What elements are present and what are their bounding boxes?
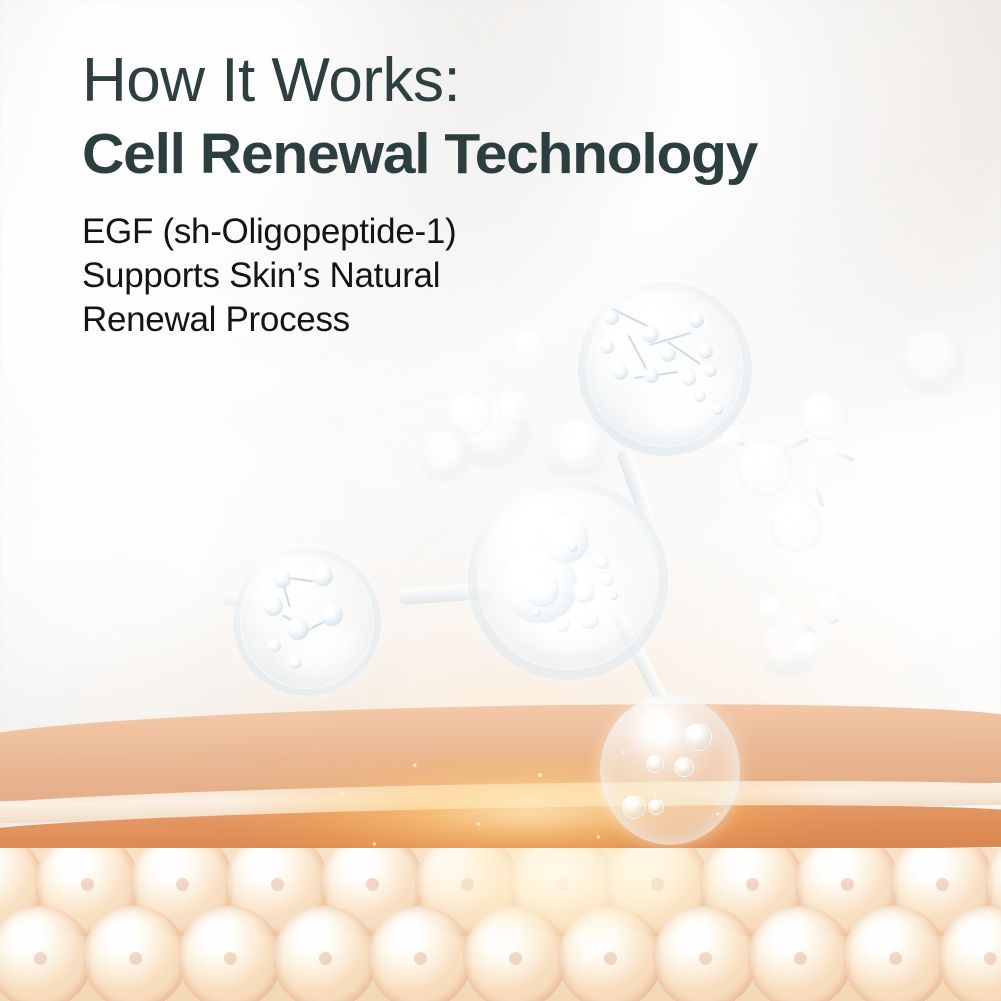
bokeh-circle: [420, 430, 472, 482]
inner-node: [273, 570, 291, 588]
subcopy-line-2: Supports Skin’s Natural: [82, 254, 737, 298]
cell: [273, 906, 377, 1001]
inner-bubble: [600, 572, 615, 587]
inner-node: [600, 340, 614, 354]
headline-block: How It Works: Cell Renewal Technology EG…: [82, 50, 737, 342]
inner-node: [269, 640, 281, 652]
inner-bubble: [524, 572, 560, 608]
inner-node: [313, 566, 333, 586]
cell: [748, 906, 852, 1001]
inner-node: [698, 344, 713, 359]
page-title: Cell Renewal Technology: [82, 124, 757, 186]
inner-bubble: [572, 580, 596, 604]
creative-canvas: How It Works: Cell Renewal Technology EG…: [0, 0, 1001, 1001]
inner-node: [712, 404, 723, 415]
molecule-node: [448, 392, 492, 436]
molecule-penetrating-skin-barrier: [600, 695, 740, 845]
inner-node: [644, 368, 659, 383]
molecule-node: [497, 390, 531, 424]
molecule-node: [770, 500, 822, 552]
cell: [83, 906, 187, 1001]
inner-node: [263, 596, 283, 616]
inner-bubble: [674, 757, 694, 777]
molecule-node: [794, 632, 828, 666]
cell: [0, 906, 92, 1001]
inner-node: [568, 542, 578, 552]
inner-bubble: [578, 608, 600, 630]
inner-bubble: [648, 799, 664, 815]
inner-bubble: [684, 723, 712, 751]
molecule-node: [737, 440, 793, 496]
inner-node: [289, 656, 302, 669]
molecule-bond: [803, 453, 824, 507]
subcopy-line-1: EGF (sh-Oligopeptide-1): [82, 210, 737, 254]
cell-layer-glow: [400, 848, 740, 948]
molecule-sphere-left: [233, 548, 381, 696]
inner-node: [704, 364, 717, 377]
inner-node: [612, 364, 628, 380]
inner-node: [682, 372, 696, 386]
inner-node: [532, 608, 541, 617]
inner-bubble: [554, 616, 571, 633]
subcopy-block: EGF (sh-Oligopeptide-1) Supports Skin’s …: [82, 210, 737, 342]
molecule-node: [758, 596, 788, 626]
cell: [178, 906, 282, 1001]
cell: [843, 906, 947, 1001]
inner-node: [660, 346, 676, 362]
inner-node: [321, 604, 343, 626]
subcopy-line-3: Renewal Process: [82, 298, 737, 342]
skin-cell-layer: [0, 848, 1001, 1001]
inner-bubble: [592, 552, 610, 570]
inner-bubble: [622, 795, 646, 819]
molecule-sphere-center: [468, 480, 668, 680]
inner-node: [610, 592, 618, 600]
kicker-text: How It Works:: [82, 50, 737, 112]
molecule-node: [800, 392, 848, 440]
inner-node: [287, 618, 309, 640]
cell: [938, 906, 1001, 1001]
inner-bubble: [646, 755, 664, 773]
inner-node: [694, 390, 706, 402]
bokeh-circle: [900, 330, 966, 396]
molecule-node: [818, 592, 844, 618]
